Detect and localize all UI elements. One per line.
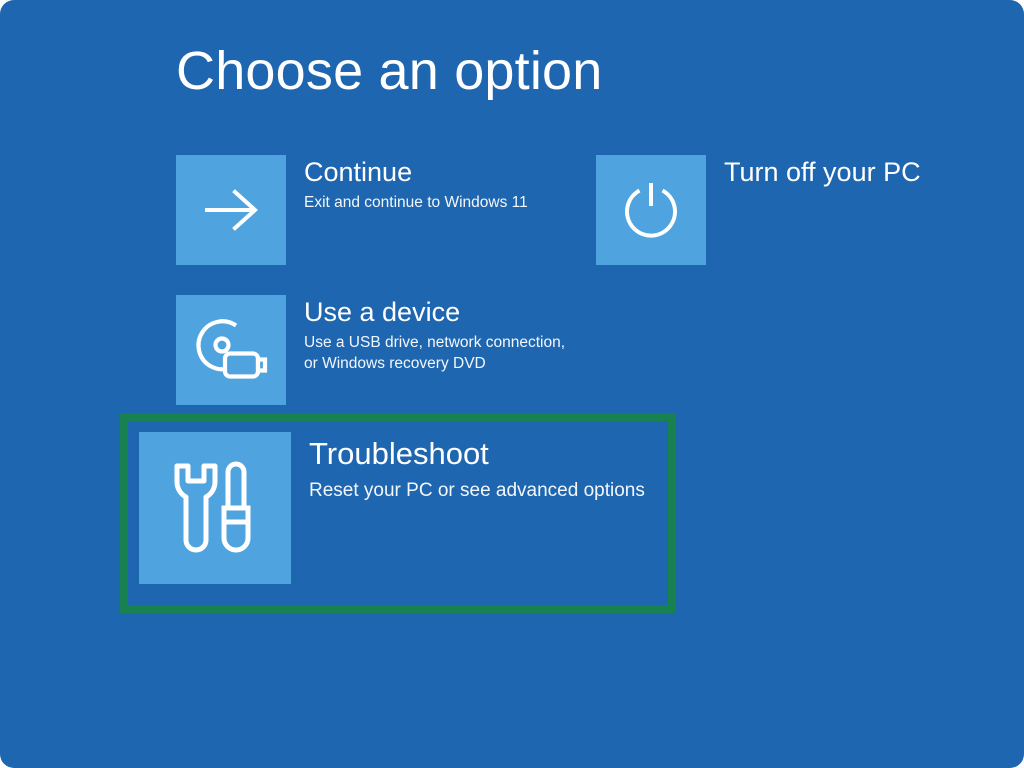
option-use-a-device-tile[interactable] [176,295,286,405]
page-title: Choose an option [176,42,603,101]
option-turn-off-your-pc-text: Turn off your PC [724,155,921,192]
option-continue-title: Continue [304,156,528,188]
recovery-screen: Choose an option Continue Exit and conti… [0,0,1024,768]
wrench-screwdriver-icon [165,456,265,560]
arrow-right-icon [195,182,267,238]
option-troubleshoot[interactable]: Troubleshoot Reset your PC or see advanc… [139,432,645,584]
option-continue-subtitle: Exit and continue to Windows 11 [304,192,528,213]
option-use-a-device-subtitle: Use a USB drive, network connection, or … [304,332,565,374]
option-use-a-device-title: Use a device [304,296,565,328]
option-use-a-device-text: Use a device Use a USB drive, network co… [304,295,565,374]
option-continue-tile[interactable] [176,155,286,265]
option-use-a-device[interactable]: Use a device Use a USB drive, network co… [176,295,565,405]
power-icon [616,175,686,245]
option-troubleshoot-tile[interactable] [139,432,291,584]
option-troubleshoot-subtitle: Reset your PC or see advanced options [309,478,645,503]
option-turn-off-your-pc-tile[interactable] [596,155,706,265]
disc-usb-icon [192,313,270,387]
option-turn-off-your-pc[interactable]: Turn off your PC [596,155,921,265]
option-troubleshoot-title: Troubleshoot [309,435,645,473]
option-continue[interactable]: Continue Exit and continue to Windows 11 [176,155,528,265]
option-troubleshoot-text: Troubleshoot Reset your PC or see advanc… [309,432,645,503]
option-turn-off-your-pc-title: Turn off your PC [724,156,921,188]
option-continue-text: Continue Exit and continue to Windows 11 [304,155,528,213]
